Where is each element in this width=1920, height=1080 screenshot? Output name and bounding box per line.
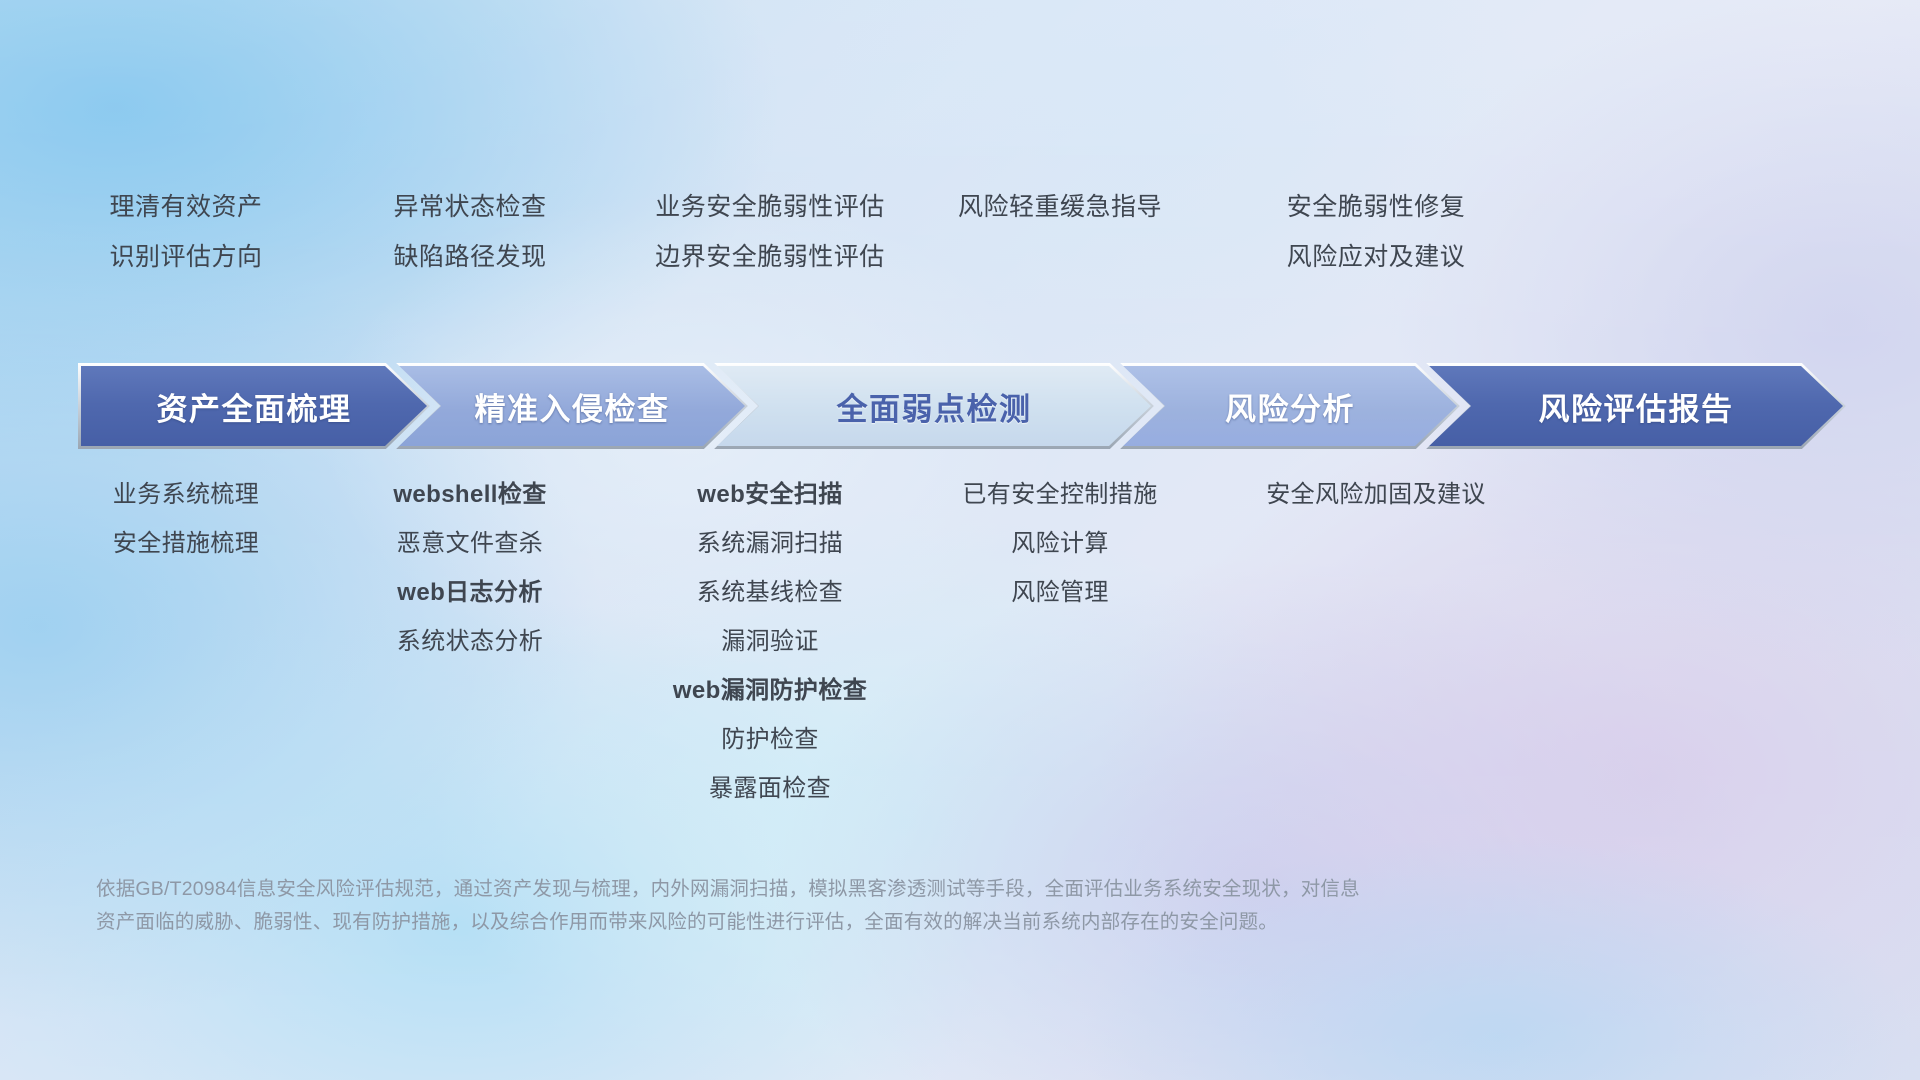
stage-title-risk-report: 风险评估报告 (1539, 384, 1734, 429)
top-caption-item: 安全脆弱性修复 (1156, 182, 1596, 232)
detail-item: 漏洞验证 (550, 617, 990, 666)
detail-col-risk-report: 安全风险加固及建议 (1156, 470, 1596, 519)
detail-item: 安全风险加固及建议 (1156, 470, 1596, 519)
footer-line-2: 资产面临的威胁、脆弱性、现有防护措施，以及综合作用而带来风险的可能性进行评估，全… (96, 906, 1616, 939)
stage-title-asset-inventory: 资产全面梳理 (157, 384, 352, 429)
stage-chevron-intrusion-check[interactable]: 精准入侵检查 (396, 363, 748, 449)
detail-item: 风险管理 (840, 568, 1280, 617)
detail-item: web漏洞防护检查 (550, 666, 990, 715)
top-caption-item: 边界安全脆弱性评估 (550, 232, 990, 282)
detail-item: 风险计算 (840, 519, 1280, 568)
footer-description: 依据GB/T20984信息安全风险评估规范，通过资产发现与梳理，内外网漏洞扫描，… (96, 873, 1616, 939)
top-captions-row: 理清有效资产识别评估方向异常状态检查缺陷路径发现业务安全脆弱性评估边界安全脆弱性… (0, 182, 1920, 292)
process-chevron-ribbon: 资产全面梳理精准入侵检查全面弱点检测风险分析风险评估报告 (78, 363, 1846, 449)
detail-item: 防护检查 (550, 715, 990, 764)
top-caption-col-risk-report: 安全脆弱性修复风险应对及建议 (1156, 182, 1596, 282)
stage-title-risk-analysis: 风险分析 (1225, 384, 1355, 429)
footer-line-1: 依据GB/T20984信息安全风险评估规范，通过资产发现与梳理，内外网漏洞扫描，… (96, 873, 1616, 906)
stage-chevron-weakness-detection[interactable]: 全面弱点检测 (714, 363, 1154, 449)
detail-item: 暴露面检查 (550, 764, 990, 813)
stage-title-weakness-detection: 全面弱点检测 (837, 384, 1032, 429)
stage-chevron-risk-report[interactable]: 风险评估报告 (1426, 363, 1846, 449)
stage-chevron-risk-analysis[interactable]: 风险分析 (1120, 363, 1460, 449)
stage-chevron-asset-inventory[interactable]: 资产全面梳理 (78, 363, 430, 449)
stage-title-intrusion-check: 精准入侵检查 (475, 384, 670, 429)
top-caption-item: 风险应对及建议 (1156, 232, 1596, 282)
